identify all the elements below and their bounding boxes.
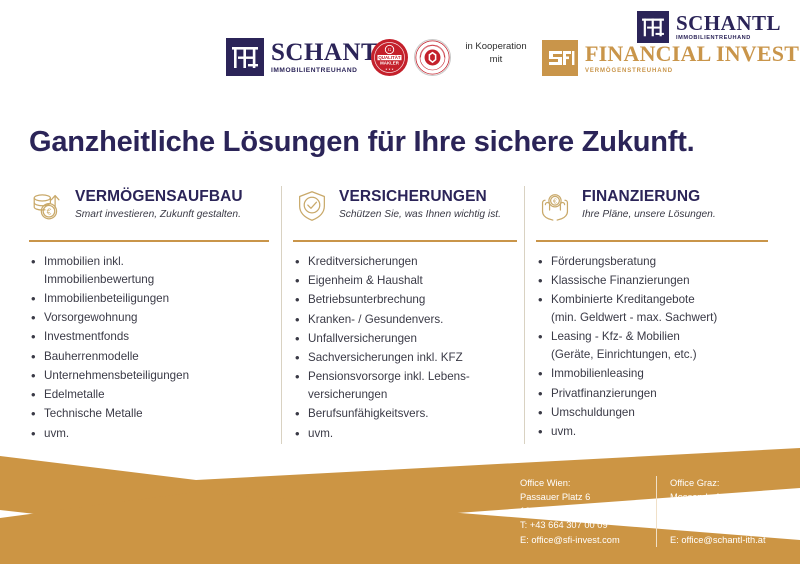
- list-item-text: Eigenheim & Haushalt: [308, 274, 423, 287]
- office-email[interactable]: E: office@schantl-ith.at: [670, 533, 766, 547]
- list-item-text: Vorsorgewohnung: [44, 311, 137, 324]
- list-item: Vorsorgewohnung: [29, 309, 281, 327]
- office-street: Passauer Platz 6: [520, 490, 656, 504]
- column-titles: FINANZIERUNG Ihre Pläne, unsere Lösungen…: [582, 186, 716, 221]
- logo-bar: SCHANTL IMMOBILIENTREUHAND G QUALITÄT MA…: [0, 0, 800, 112]
- service-list: Förderungsberatung Klassische Finanzieru…: [536, 253, 774, 441]
- list-item-continuation: (min. Geldwert - max. Sachwert): [551, 309, 774, 327]
- logo-schantl-primary: SCHANTL IMMOBILIENTREUHAND: [226, 38, 395, 76]
- list-item-text: Umschuldungen: [551, 406, 635, 419]
- flyer-page: SCHANTL IMMOBILIENTREUHAND G QUALITÄT MA…: [0, 0, 800, 564]
- svg-text:€: €: [553, 199, 557, 206]
- list-item-text: Technische Metalle: [44, 407, 143, 420]
- column-title: VERSICHERUNGEN: [339, 188, 501, 206]
- list-item: Eigenheim & Haushalt: [293, 272, 524, 290]
- list-item-continuation: Immobilienbewertung: [44, 271, 281, 289]
- list-item-text: Edelmetalle: [44, 388, 105, 401]
- cooperation-note: in Kooperation mit: [460, 40, 532, 67]
- list-item-text: Bauherrenmodelle: [44, 350, 139, 363]
- column-subtitle: Smart investieren, Zukunft gestalten.: [75, 209, 243, 221]
- column-finanzierung: € FINANZIERUNG Ihre Pläne, unsere Lösung…: [524, 186, 774, 444]
- column-titles: VERMÖGENSAUFBAU Smart investieren, Zukun…: [75, 186, 243, 221]
- list-item-text: uvm.: [308, 427, 333, 440]
- page-title: Ganzheitliche Lösungen für Ihre sichere …: [29, 126, 695, 159]
- list-item: Betriebsunterbrechung: [293, 291, 524, 309]
- service-list: Kreditversicherungen Eigenheim & Haushal…: [293, 253, 524, 442]
- column-header: € VERMÖGENSAUFBAU Smart investieren, Zuk…: [29, 186, 281, 230]
- list-item: Kombinierte Kreditangebote (min. Geldwer…: [536, 291, 774, 326]
- list-item-text: Privatfinanzierungen: [551, 387, 657, 400]
- list-item-text: uvm.: [551, 425, 576, 438]
- column-header: € FINANZIERUNG Ihre Pläne, unsere Lösung…: [536, 186, 774, 230]
- logo-schantl-secondary-name: SCHANTL: [676, 13, 781, 34]
- list-item: Technische Metalle: [29, 405, 281, 423]
- column-subtitle: Ihre Pläne, unsere Lösungen.: [582, 209, 716, 221]
- logo-sfi-words: FINANCIAL INVEST VERMÖGENSTREUHAND: [585, 43, 799, 74]
- column-titles: VERSICHERUNGEN Schützen Sie, was Ihnen w…: [339, 186, 501, 221]
- column-title: FINANZIERUNG: [582, 188, 716, 206]
- list-item: Unfallversicherungen: [293, 330, 524, 348]
- list-item: Klassische Finanzierungen: [536, 272, 774, 290]
- list-item-text: Kombinierte Kreditangebote: [551, 293, 695, 306]
- column-vermoegensaufbau: € VERMÖGENSAUFBAU Smart investieren, Zuk…: [29, 186, 281, 444]
- column-versicherungen: VERSICHERUNGEN Schützen Sie, was Ihnen w…: [281, 186, 524, 444]
- list-item: Investmentfonds: [29, 328, 281, 346]
- list-item: uvm.: [536, 423, 774, 441]
- qualitaets-makler-seal-icon: G QUALITÄT MAKLER ★ ★ ★: [371, 39, 408, 76]
- column-divider-rule: [293, 240, 517, 242]
- ith-monogram-icon: [226, 38, 264, 76]
- list-item-text: Förderungsberatung: [551, 255, 656, 268]
- logo-sfi-subtitle: VERMÖGENSTREUHAND: [585, 68, 799, 74]
- list-item: Berufsunfähigkeitsvers.: [293, 405, 524, 423]
- svg-text:MAKLER: MAKLER: [380, 60, 400, 65]
- wko-wappen-seal-icon: [414, 39, 451, 76]
- logo-sfi-financial-invest: FINANCIAL INVEST VERMÖGENSTREUHAND: [542, 40, 799, 76]
- shield-check-icon: [293, 187, 331, 225]
- logo-schantl-secondary-subtitle: IMMOBILIENTREUHAND: [676, 36, 781, 42]
- list-item: Kranken- / Gesundenvers.: [293, 311, 524, 329]
- list-item-text: Leasing - Kfz- & Mobilien: [551, 330, 680, 343]
- office-city: 8041 Graz: [670, 504, 766, 518]
- logo-sfi-name: FINANCIAL INVEST: [585, 43, 799, 65]
- office-phone[interactable]: T: +43 664 307 00 09: [520, 518, 656, 532]
- list-item: Immobilien inkl. Immobilienbewertung: [29, 253, 281, 288]
- logo-schantl-secondary-words: SCHANTL IMMOBILIENTREUHAND: [676, 13, 781, 42]
- list-item-text: Unternehmensbeteiligungen: [44, 369, 189, 382]
- list-item-text: Immobilienbeteiligungen: [44, 292, 169, 305]
- office-phone[interactable]: T: +43 664 541 10 47: [670, 518, 766, 532]
- office-email[interactable]: E: office@sfi-invest.com: [520, 533, 656, 547]
- list-item-text: Unfallversicherungen: [308, 332, 417, 345]
- svg-text:€: €: [47, 207, 52, 217]
- office-city: 1010 Wien: [520, 504, 656, 518]
- column-title: VERMÖGENSAUFBAU: [75, 188, 243, 206]
- service-list: Immobilien inkl. Immobilienbewertung Imm…: [29, 253, 281, 442]
- ith-monogram-icon: [637, 11, 669, 43]
- list-item: Edelmetalle: [29, 386, 281, 404]
- list-item: Umschuldungen: [536, 404, 774, 422]
- list-item-text: Kranken- / Gesundenvers.: [308, 313, 443, 326]
- list-item-text: Investmentfonds: [44, 330, 129, 343]
- list-item-text: Kreditversicherungen: [308, 255, 418, 268]
- list-item: Immobilienbeteiligungen: [29, 290, 281, 308]
- list-item: Bauherrenmodelle: [29, 348, 281, 366]
- column-divider-rule: [29, 240, 269, 242]
- list-item-text: Sachversicherungen inkl. KFZ: [308, 351, 463, 364]
- office-label: Office Wien:: [520, 476, 656, 490]
- column-header: VERSICHERUNGEN Schützen Sie, was Ihnen w…: [293, 186, 524, 230]
- sfi-monogram-icon: [542, 40, 578, 76]
- footer-offices: Office Wien: Passauer Platz 6 1010 Wien …: [520, 476, 766, 547]
- office-street: Messendorferstr. 71a: [670, 490, 766, 504]
- list-item-text: Immobilien inkl.: [44, 255, 124, 268]
- list-item-text: uvm.: [44, 427, 69, 440]
- list-item-text: Immobilienleasing: [551, 367, 644, 380]
- list-item: Sachversicherungen inkl. KFZ: [293, 349, 524, 367]
- list-item-continuation: versicherungen: [308, 386, 524, 404]
- list-item: Privatfinanzierungen: [536, 385, 774, 403]
- office-label: Office Graz:: [670, 476, 766, 490]
- list-item: Pensionsvorsorge inkl. Lebens- versicher…: [293, 368, 524, 403]
- column-divider-rule: [536, 240, 768, 242]
- coins-euro-growth-icon: €: [29, 187, 67, 225]
- list-item-text: Pensionsvorsorge inkl. Lebens-: [308, 370, 470, 383]
- list-item: Unternehmensbeteiligungen: [29, 367, 281, 385]
- column-subtitle: Schützen Sie, was Ihnen wichtig ist.: [339, 209, 501, 221]
- list-item: Kreditversicherungen: [293, 253, 524, 271]
- list-item-text: Klassische Finanzierungen: [551, 274, 690, 287]
- logo-schantl-secondary: SCHANTL IMMOBILIENTREUHAND: [637, 11, 781, 43]
- office-graz: Office Graz: Messendorferstr. 71a 8041 G…: [656, 476, 766, 547]
- list-item-text: Betriebsunterbrechung: [308, 293, 425, 306]
- service-columns: € VERMÖGENSAUFBAU Smart investieren, Zuk…: [29, 186, 774, 444]
- list-item: Förderungsberatung: [536, 253, 774, 271]
- quality-seals: G QUALITÄT MAKLER ★ ★ ★: [371, 39, 451, 76]
- list-item-continuation: (Geräte, Einrichtungen, etc.): [551, 346, 774, 364]
- list-item-text: Berufsunfähigkeitsvers.: [308, 407, 429, 420]
- list-item: Leasing - Kfz- & Mobilien (Geräte, Einri…: [536, 328, 774, 363]
- hands-holding-coin-icon: €: [536, 187, 574, 225]
- list-item: Immobilienleasing: [536, 365, 774, 383]
- svg-text:★ ★ ★: ★ ★ ★: [385, 67, 394, 71]
- office-wien: Office Wien: Passauer Platz 6 1010 Wien …: [520, 476, 656, 547]
